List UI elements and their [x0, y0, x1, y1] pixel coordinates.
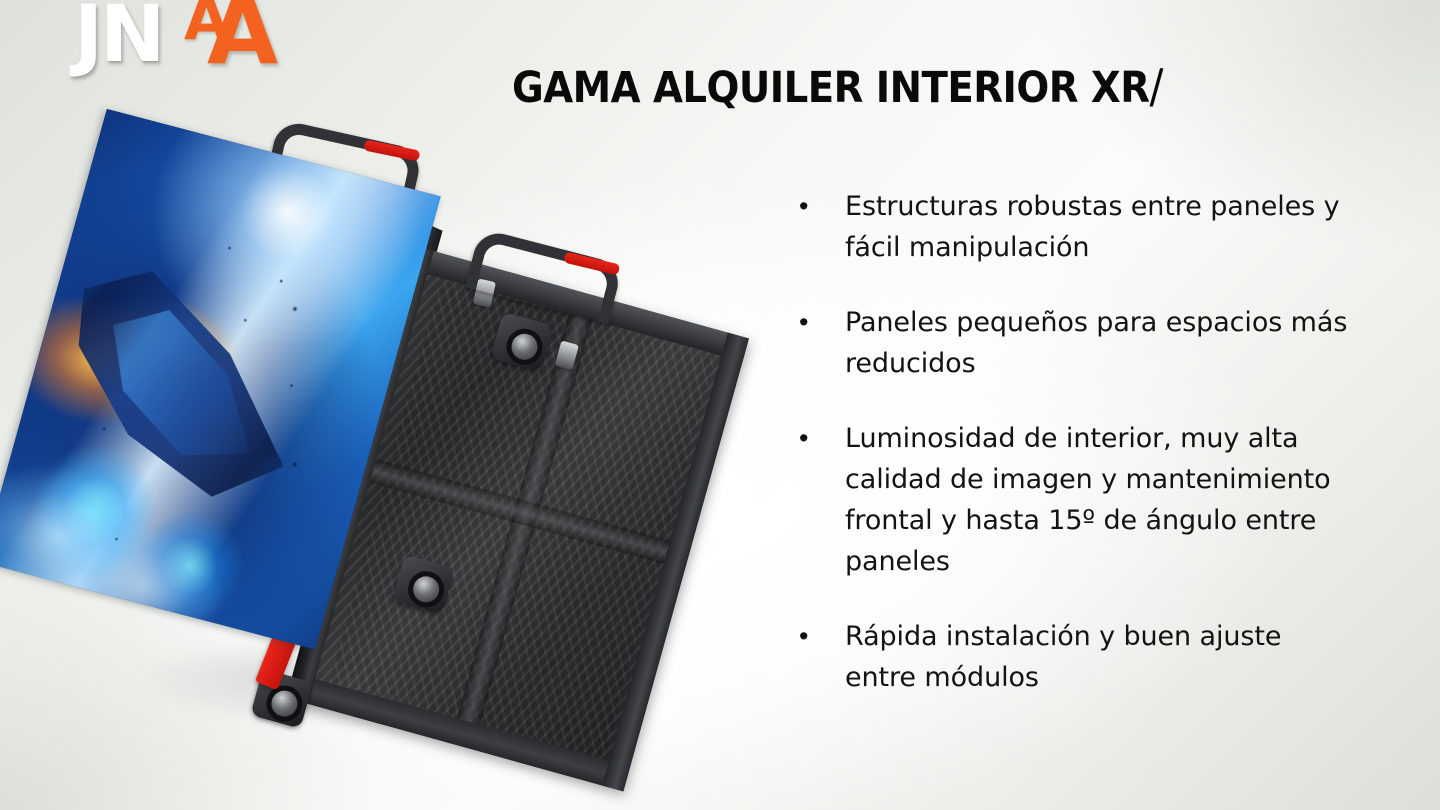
bullet-text: Rápida instalación y buen ajuste entre m…: [845, 616, 1355, 698]
bullet-marker-icon: •: [799, 616, 819, 657]
list-item: • Paneles pequeños para espacios más red…: [795, 302, 1355, 384]
bullet-marker-icon: •: [799, 418, 819, 459]
bullet-marker-icon: •: [799, 302, 819, 343]
logo-letters-jn: JN: [74, 0, 162, 78]
led-panel-product-image: [0, 150, 760, 790]
page-title-text: GAMA ALQUILER INTERIOR XR: [512, 63, 1149, 113]
page-title: GAMA ALQUILER INTERIOR XR/: [512, 58, 1163, 116]
feature-bullet-list: • Estructuras robustas entre paneles y f…: [795, 186, 1355, 732]
bullet-text: Estructuras robustas entre paneles y fác…: [845, 186, 1355, 268]
page-title-slash: /: [1149, 59, 1163, 113]
carry-handle-b-grip: [563, 252, 620, 276]
list-item: • Estructuras robustas entre paneles y f…: [795, 186, 1355, 268]
jna-logo: A JN A: [74, 0, 304, 78]
bullet-text: Luminosidad de interior, muy alta calida…: [845, 418, 1355, 582]
list-item: • Rápida instalación y buen ajuste entre…: [795, 616, 1355, 698]
slide-canvas: A JN A GAMA ALQUILER INTERIOR XR/: [0, 0, 1440, 810]
logo-letter-a-foreground: A: [207, 0, 275, 78]
bullet-text: Paneles pequeños para espacios más reduc…: [845, 302, 1355, 384]
bullet-marker-icon: •: [799, 186, 819, 227]
list-item: • Luminosidad de interior, muy alta cali…: [795, 418, 1355, 582]
